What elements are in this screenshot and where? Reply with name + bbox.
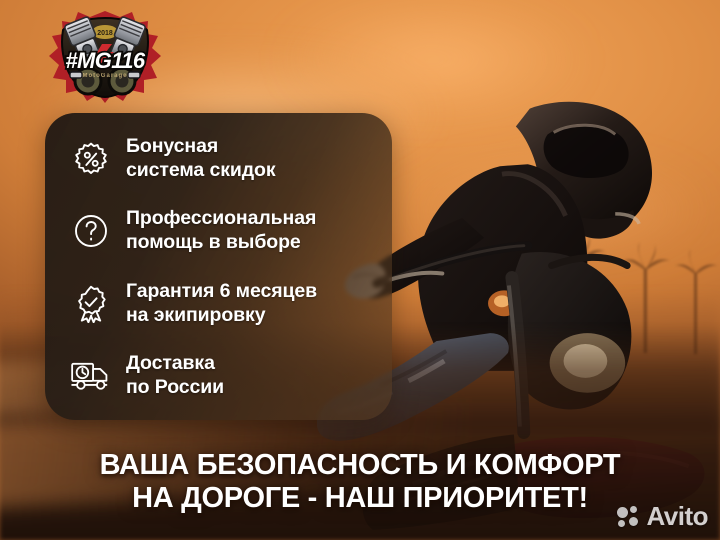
- feature-label: Бонусная система скидок: [126, 135, 276, 183]
- logo-year: 2018: [97, 30, 113, 37]
- feature-item-warranty: Гарантия 6 месяцев на экипировку: [71, 280, 382, 328]
- percent-badge-icon: [71, 138, 111, 180]
- feature-item-help: Профессиональная помощь в выборе: [71, 207, 382, 255]
- feature-label: Гарантия 6 месяцев на экипировку: [126, 280, 317, 328]
- question-circle-icon: [71, 210, 111, 252]
- avito-dots-icon: [617, 506, 641, 528]
- logo-subtext: MotoGarage: [82, 73, 127, 79]
- delivery-truck-clock-icon: [71, 355, 111, 397]
- award-check-icon: [71, 283, 111, 325]
- feature-label: Профессиональная помощь в выборе: [126, 207, 316, 255]
- brand-logo[interactable]: 2018: [44, 8, 166, 106]
- feature-item-delivery: Доставка по России: [71, 352, 382, 400]
- features-card: Бонусная система скидок Профессиональная…: [45, 113, 392, 420]
- feature-label: Доставка по России: [126, 352, 224, 400]
- logo-wordmark: #MG116: [65, 48, 146, 73]
- feature-item-discounts: Бонусная система скидок: [71, 135, 382, 183]
- headline-text: ВАША БЕЗОПАСНОСТЬ И КОМФОРТ НА ДОРОГЕ - …: [0, 449, 720, 514]
- avito-watermark: Avito: [617, 501, 708, 532]
- avito-label: Avito: [646, 501, 708, 532]
- promo-banner: 2018: [0, 0, 720, 540]
